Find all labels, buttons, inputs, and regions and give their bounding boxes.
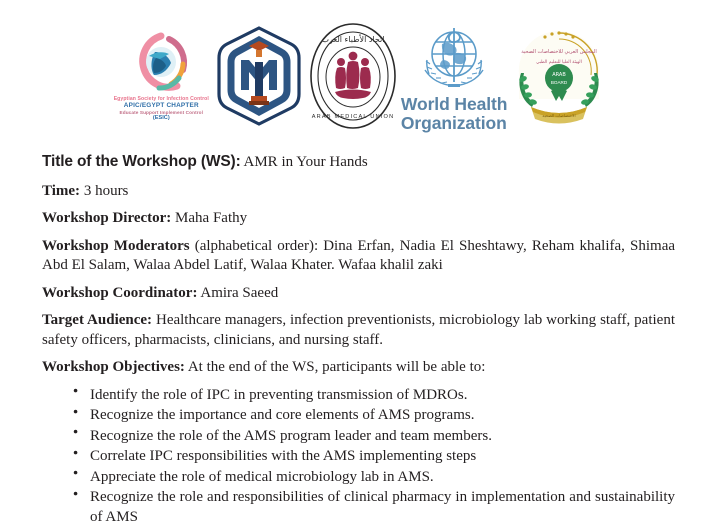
esic-logo: Egyptian Society for Infection Control A… [114, 30, 209, 122]
field-workshop-coordinator: Workshop Coordinator: Amira Saeed [42, 284, 675, 304]
ahcpr-hexagon-logo [213, 24, 305, 128]
list-item: Appreciate the role of medical microbiol… [90, 468, 675, 488]
list-item: Correlate IPC responsibilities with the … [90, 447, 675, 467]
esic-emblem-icon [125, 30, 197, 94]
list-item: Identify the role of IPC in preventing t… [90, 386, 675, 406]
field-workshop-objectives: Workshop Objectives: At the end of the W… [42, 358, 675, 378]
svg-text:الاختصاصات الصحية: الاختصاصات الصحية [543, 113, 576, 118]
wreath-emblem-icon: المجلس العربي للاختصاصات الصحية الهيئة ا… [511, 23, 607, 129]
field-workshop-director-value: Maha Fathy [171, 210, 247, 226]
who-text-line-2: Organization [401, 114, 507, 133]
field-time-value: 3 hours [80, 183, 128, 199]
document-body: Title of the Workshop (WS): AMR in Your … [0, 152, 719, 527]
svg-text:BOARD: BOARD [551, 80, 568, 85]
field-workshop-coordinator-label: Workshop Coordinator: [42, 285, 197, 301]
world-health-organization-logo: World Health Organization [401, 20, 507, 132]
who-text-line-1: World Health [401, 95, 507, 114]
field-workshop-objectives-label: Workshop Objectives: [42, 359, 185, 375]
arab-medical-union-emblem-icon: اتحاد الأطباء العرب ARAB MEDICAL UNION [309, 22, 397, 130]
svg-text:المجلس العربي للاختصاصات الصحي: المجلس العربي للاختصاصات الصحية [522, 49, 598, 55]
objectives-list: Identify the role of IPC in preventing t… [42, 386, 675, 528]
svg-text:ARAB: ARAB [553, 72, 567, 78]
arab-board-wreath-logo: المجلس العربي للاختصاصات الصحية الهيئة ا… [511, 23, 607, 129]
esic-line-2: APIC/EGYPT CHAPTER [114, 102, 209, 110]
field-workshop-objectives-value: At the end of the WS, participants will … [185, 359, 486, 375]
list-item: Recognize the importance and core elemen… [90, 406, 675, 426]
list-item: Recognize the role and responsibilities … [90, 488, 675, 527]
field-workshop-coordinator-value: Amira Saeed [197, 285, 278, 301]
field-workshop-director-label: Workshop Director: [42, 210, 171, 226]
logo-header-band: Egyptian Society for Infection Control A… [0, 0, 719, 152]
hexagon-emblem-icon [213, 24, 305, 128]
field-workshop-director: Workshop Director: Maha Fathy [42, 209, 675, 229]
svg-text:ARAB MEDICAL UNION: ARAB MEDICAL UNION [312, 114, 395, 120]
workshop-title-line: Title of the Workshop (WS): AMR in Your … [42, 152, 675, 173]
svg-text:اتحاد الأطباء العرب: اتحاد الأطباء العرب [321, 34, 384, 44]
who-emblem-icon [412, 20, 496, 94]
workshop-title-label: Title of the Workshop (WS): [42, 153, 241, 170]
field-time: Time: 3 hours [42, 182, 675, 202]
list-item: Recognize the role of the AMS program le… [90, 427, 675, 447]
field-workshop-moderators-label: Workshop Moderators [42, 238, 190, 254]
field-time-label: Time: [42, 183, 80, 199]
field-target-audience-label: Target Audience: [42, 312, 152, 328]
arab-medical-union-logo: اتحاد الأطباء العرب ARAB MEDICAL UNION [309, 22, 397, 130]
field-workshop-moderators: Workshop Moderators (alphabetical order)… [42, 237, 675, 276]
workshop-title-value: AMR in Your Hands [241, 154, 368, 170]
esic-line-4: (ESIC) [114, 115, 209, 122]
field-target-audience: Target Audience: Healthcare managers, in… [42, 311, 675, 350]
